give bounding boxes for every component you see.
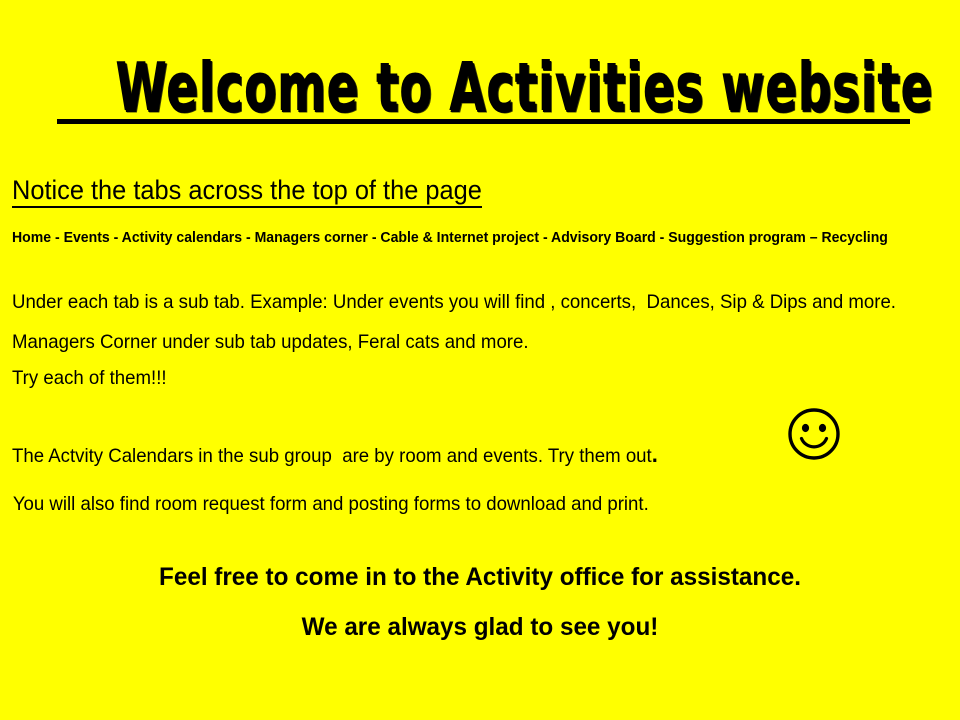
closing-line-2: We are always glad to see you!: [14, 612, 945, 642]
page-title: Welcome to Activities website: [0, 52, 960, 116]
notice-heading: Notice the tabs across the top of the pa…: [12, 174, 482, 206]
body-paragraph-5: You will also find room request form and…: [8, 492, 649, 516]
body-paragraph-4-period: .: [652, 441, 658, 467]
body-paragraph-2: Managers Corner under sub tab updates, F…: [12, 330, 529, 354]
closing-line-1: Feel free to come in to the Activity off…: [14, 562, 945, 592]
tab-list-line: Home - Events - Activity calendars - Man…: [12, 229, 888, 247]
title-underline-rule: [57, 119, 910, 124]
notice-heading-text: Notice the tabs across the top of the pa…: [12, 175, 482, 208]
page-title-text: Welcome to Activities website: [115, 52, 933, 124]
slide-canvas: Welcome to Activities website Notice the…: [0, 0, 960, 720]
body-paragraph-4-text: The Actvity Calendars in the sub group a…: [12, 445, 652, 467]
body-paragraph-1: Under each tab is a sub tab. Example: Un…: [12, 290, 896, 314]
smiley-face-icon: [786, 406, 842, 462]
body-paragraph-4: The Actvity Calendars in the sub group a…: [12, 442, 658, 468]
body-paragraph-3: Try each of them!!!: [12, 366, 167, 390]
